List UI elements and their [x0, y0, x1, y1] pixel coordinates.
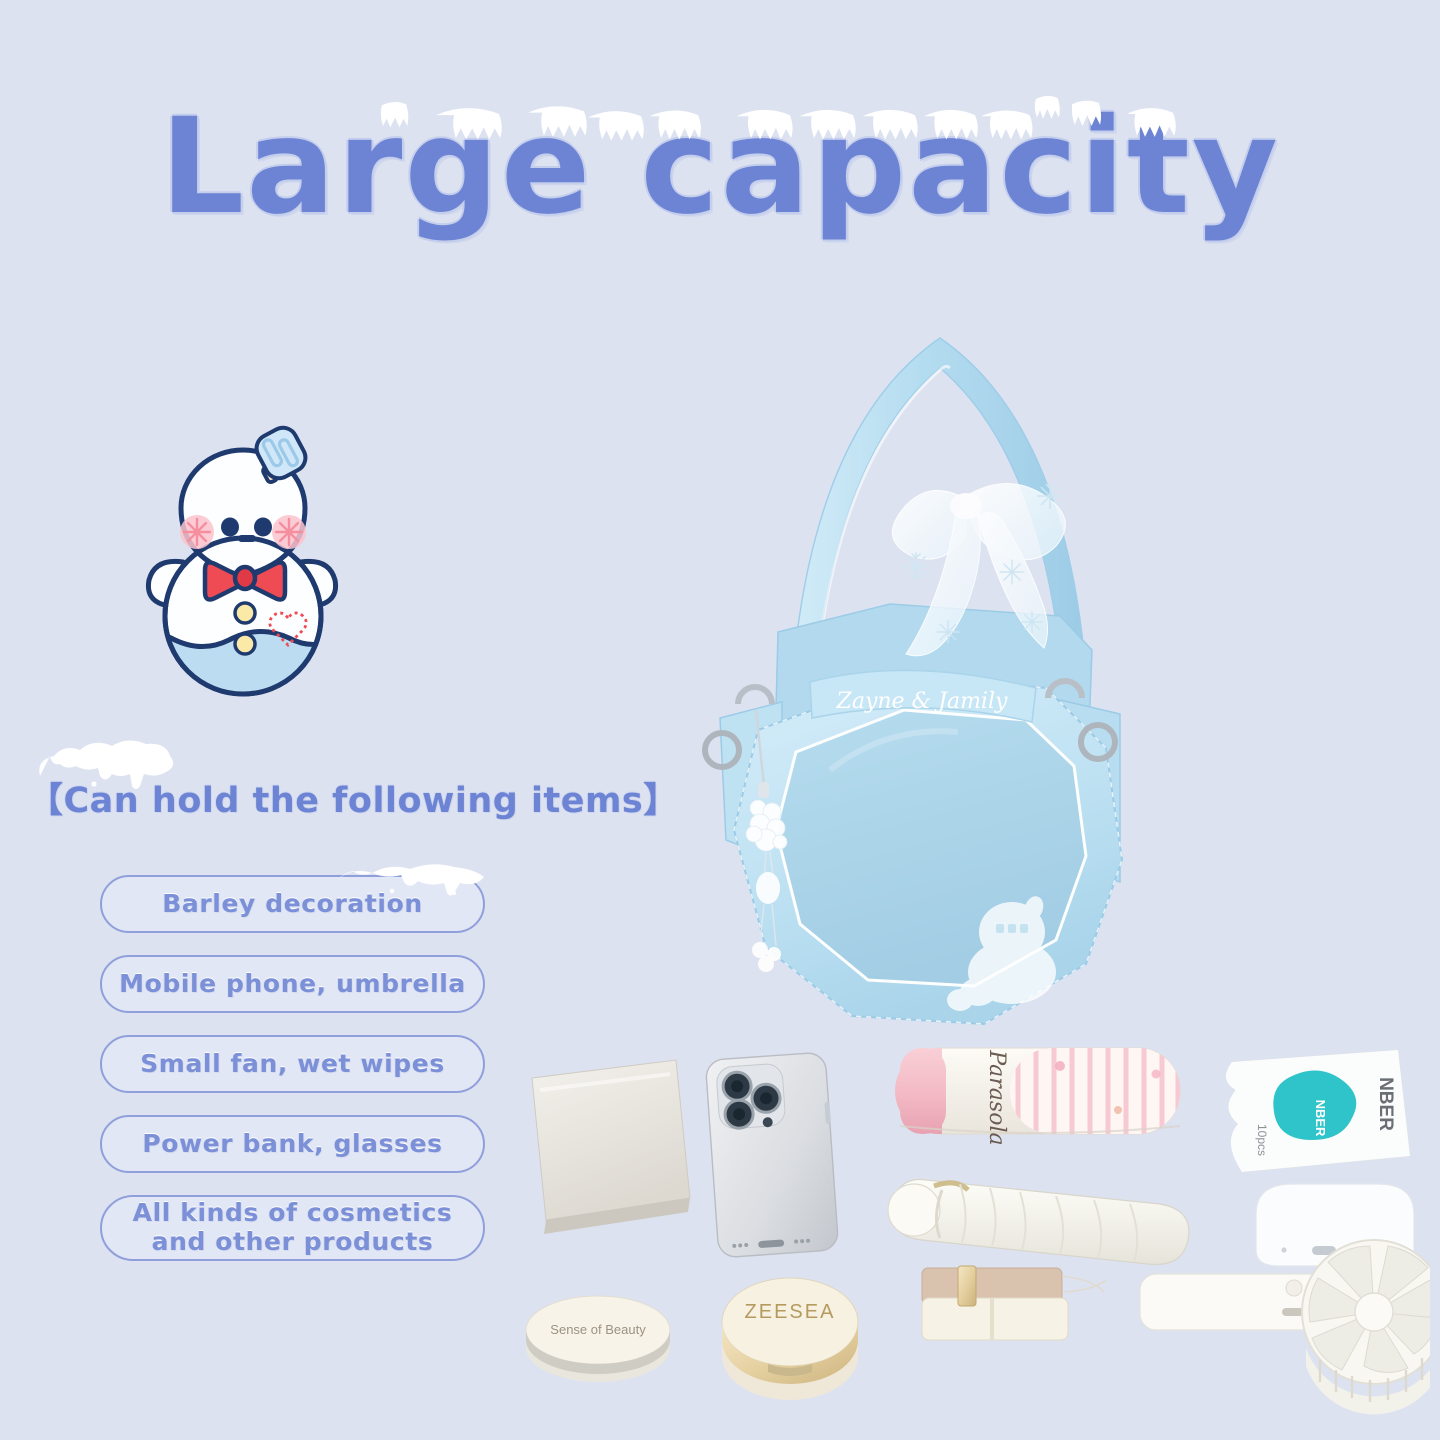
wipes-count-label: 10pcs [1255, 1124, 1269, 1156]
section-heading: 【Can hold the following items】 [28, 772, 679, 823]
cushion-compact-item: ZEESEA [722, 1278, 858, 1400]
page-title-area: Large capacity [0, 92, 1440, 244]
product-bag-image: Zayne & Jamily [660, 300, 1180, 1060]
wet-wipes-item: NBER NBER 10pcs [1226, 1050, 1410, 1172]
page-title: Large capacity [160, 92, 1280, 244]
compact-mirror-item: Sense of Beauty [526, 1296, 670, 1382]
list-item[interactable]: Mobile phone, umbrella [100, 955, 485, 1013]
list-item[interactable]: Power bank, glasses [100, 1115, 485, 1173]
product-marketing-page: Large capacity [0, 0, 1440, 1440]
d-ring-left [738, 687, 772, 704]
button-bottom-icon [235, 634, 255, 654]
list-item-label: Power bank, glasses [142, 1130, 442, 1159]
eye-right-icon [254, 518, 272, 537]
mouth-icon [238, 535, 256, 542]
capacity-list: Barley decoration Mobile phone, umbrella… [100, 875, 485, 1283]
list-item[interactable]: All kinds of cosmetics and other product… [100, 1195, 485, 1261]
snowman-mascot [125, 420, 360, 720]
mobile-phone-item [705, 1052, 839, 1258]
mirror-brand-label: Sense of Beauty [550, 1322, 646, 1337]
wipes-brand-label: NBER [1375, 1077, 1396, 1131]
list-item-label: Small fan, wet wipes [140, 1050, 445, 1079]
accessory-items-group: Parasola NBER NBER 10pcs [490, 1030, 1430, 1430]
eye-left-icon [221, 518, 239, 537]
list-item[interactable]: Small fan, wet wipes [100, 1035, 485, 1093]
power-bank-item [532, 1060, 690, 1234]
list-item-label: Barley decoration [162, 890, 423, 919]
lipstick-item [922, 1266, 1106, 1340]
button-top-icon [235, 603, 255, 623]
list-item-label: All kinds of cosmetics and other product… [133, 1199, 453, 1257]
list-item[interactable]: Barley decoration [100, 875, 485, 933]
sunscreen-spray-item: Parasola [895, 1048, 1180, 1146]
wipes-brand-on-blob: NBER [1313, 1100, 1328, 1137]
brand-script: Zayne & Jamily [836, 689, 1008, 714]
list-item-label: Mobile phone, umbrella [119, 970, 466, 999]
cushion-brand-label: ZEESEA [745, 1301, 836, 1323]
folding-umbrella-item [888, 1180, 1189, 1265]
